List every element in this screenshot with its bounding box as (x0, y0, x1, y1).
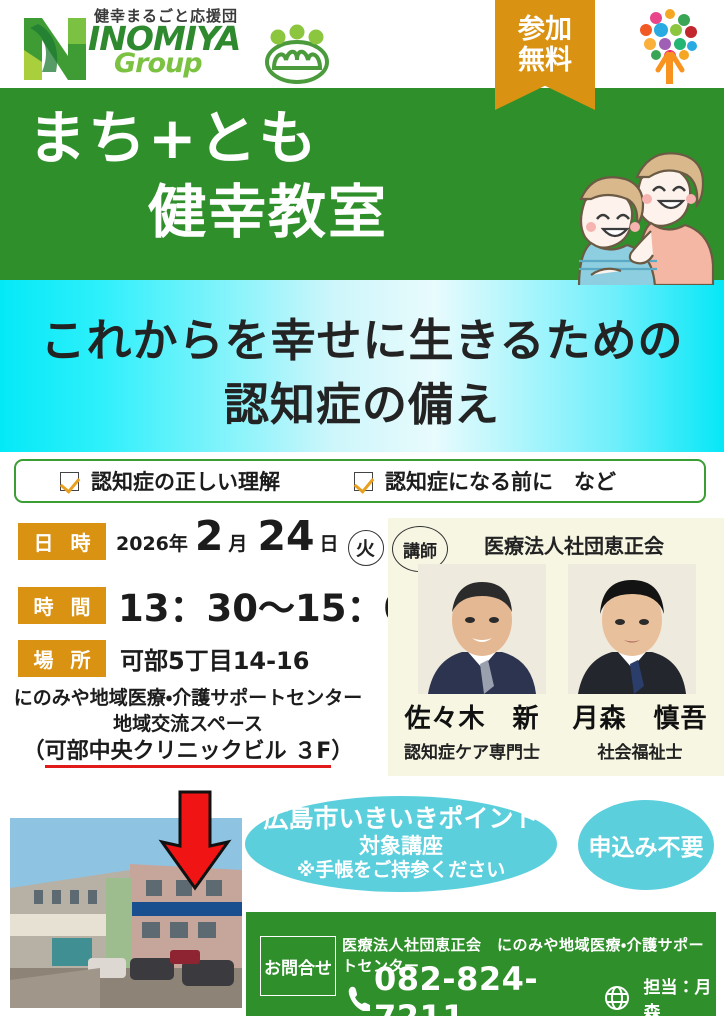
lecturer-entry: 佐々木 新 認知症ケア専門士 (388, 698, 556, 763)
header: 健幸まるごと応援団 INOMIYA Group (0, 0, 724, 90)
lecturer-qualification: 認知症ケア専門士 (388, 738, 556, 763)
topic-label: 認知症の正しい理解 (91, 466, 280, 496)
venue-building: 可部中央クリニックビル ３F (45, 739, 332, 768)
lecturer-entry: 月森 慎吾 社会福祉士 (556, 698, 724, 763)
ikiiki-point-badge: 広島市いきいきポイント 対象講座 ※手帳をご持参ください (245, 796, 557, 892)
date-row: 日 時 2026年 2 月 24 日 火 (18, 516, 384, 561)
topic-label: 認知症になる前に など (385, 466, 616, 496)
ribbon-line-1: 参加 (495, 14, 595, 45)
place-label: 場 所 (18, 640, 106, 677)
checkbox-checked-icon (354, 472, 373, 491)
phone-icon (346, 985, 370, 1011)
ribbon-line-2: 無料 (495, 45, 595, 76)
time-row: 時 間 13：30〜15：00 (18, 578, 435, 632)
venue-paren-open: （ (23, 739, 45, 764)
venue-paren-close: ） (331, 739, 353, 764)
lecturer-qualification: 社会福祉士 (556, 738, 724, 763)
checkbox-checked-icon (60, 472, 79, 491)
lecturer-panel: 講師 医療法人社団恵正会 (388, 518, 724, 776)
no-reservation-badge: 申込み不要 (578, 800, 714, 890)
month-unit: 月 (228, 529, 247, 556)
day-unit: 日 (320, 529, 339, 556)
lecturer-photos (404, 564, 710, 694)
logo-name-secondary: Group (114, 50, 202, 77)
title-line-1: まち+とも (28, 109, 319, 167)
topic-item: 認知症の正しい理解 (60, 466, 280, 496)
tree-of-health-icon (628, 4, 712, 86)
logo-family-mark-icon (264, 24, 330, 84)
lecturer-organization: 医療法人社団恵正会 (388, 530, 724, 559)
contact-label: お問合せ (260, 936, 336, 996)
contact-footer: お問合せ 医療法人社団恵正会 にのみや地域医療・介護サポートセンター 082-8… (246, 912, 716, 1016)
lecturer-names: 佐々木 新 認知症ケア専門士 月森 慎吾 社会福祉士 (388, 698, 724, 763)
globe-icon (604, 985, 630, 1011)
venue-line-2: 地域交流スペース (8, 712, 368, 738)
venue-line-3: （可部中央クリニックビル ３F） (23, 737, 354, 768)
contact-phone: 082-824-7211 (374, 960, 592, 1036)
lecturer-photo (568, 564, 696, 694)
venue-details: にのみや地域医療・介護サポートセンター 地域交流スペース （可部中央クリニックビ… (8, 686, 368, 768)
topic-item: 認知症になる前に など (354, 466, 616, 496)
logo-n-icon (20, 10, 92, 82)
time-label: 時 間 (18, 587, 106, 624)
topics-box: 認知症の正しい理解 認知症になる前に など (14, 459, 706, 503)
date-day: 24 (257, 516, 314, 557)
lecturer-photo (418, 564, 546, 694)
ninomiya-group-logo: 健幸まるごと応援団 INOMIYA Group (14, 2, 334, 88)
lecturer-name: 佐々木 新 (388, 698, 556, 735)
point-line-1: 広島市いきいきポイント (263, 805, 538, 833)
contact-staff: 担当：月森 (644, 973, 716, 1023)
date-label: 日 時 (18, 523, 106, 560)
date-month: 2 (195, 516, 224, 557)
subtitle-band: これからを幸せに生きるための 認知症の備え (0, 280, 724, 452)
venue-line-1: にのみや地域医療・介護サポートセンター (8, 686, 368, 712)
point-line-3: ※手帳をご持参ください (297, 859, 505, 883)
subtitle-line-2: 認知症の備え (0, 368, 724, 433)
smiling-couple-illustration (533, 135, 723, 285)
red-down-arrow-icon (156, 788, 234, 893)
lecturer-name: 月森 慎吾 (556, 698, 724, 735)
date-year: 2026年 (116, 529, 188, 556)
contact-line: 082-824-7211 担当：月森 (346, 960, 716, 1036)
subtitle-line-1: これからを幸せに生きるための (0, 304, 724, 369)
place-address: 可部5丁目14-16 (120, 641, 309, 676)
point-line-2: 対象講座 (359, 833, 443, 859)
flyer-root: 健幸まるごと応援団 INOMIYA Group (0, 0, 724, 1024)
weekday-badge: 火 (348, 530, 384, 566)
title-line-2: 健幸教室 (148, 183, 388, 241)
place-row: 場 所 可部5丁目14-16 (18, 640, 309, 677)
